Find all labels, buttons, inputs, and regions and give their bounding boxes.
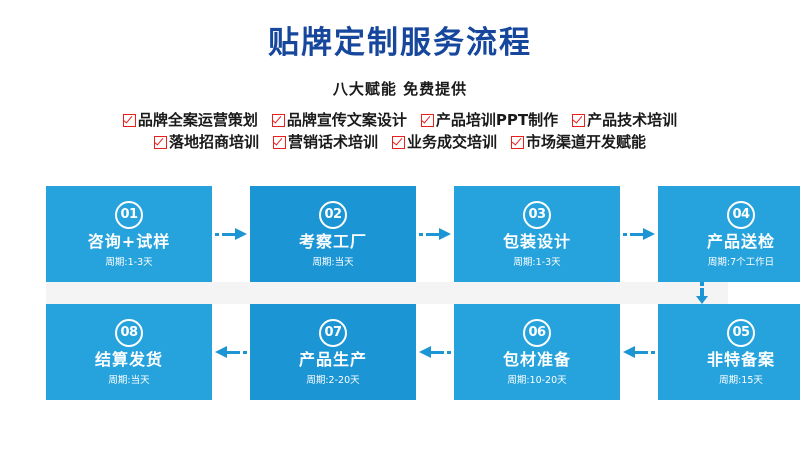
benefit-item: 落地招商培训 [154, 135, 259, 150]
flow-connector [212, 186, 250, 282]
flow-connector [620, 186, 658, 282]
flow-connector [416, 304, 454, 400]
flow-step-01[interactable]: 01 咨询+试样 周期:1-3天 [46, 186, 212, 282]
step-period: 周期:15天 [719, 376, 763, 386]
step-name: 非特备案 [707, 352, 775, 368]
step-name: 产品生产 [299, 352, 367, 368]
page-subtitle: 八大赋能 免费提供 [0, 59, 800, 99]
step-name: 包材准备 [503, 352, 571, 368]
flow-connector [212, 304, 250, 400]
benefit-label: 品牌宣传文案设计 [287, 113, 407, 128]
arrow-right-icon [623, 228, 655, 240]
step-number: 04 [727, 201, 755, 229]
checked-checkbox-icon [273, 136, 286, 149]
step-period: 周期:2-20天 [306, 376, 359, 386]
flow-connector [416, 186, 454, 282]
benefit-item: 市场渠道开发赋能 [511, 135, 646, 150]
benefit-label: 产品技术培训 [587, 113, 677, 128]
checked-checkbox-icon [421, 114, 434, 127]
benefit-item: 产品技术培训 [572, 113, 677, 128]
step-number: 01 [115, 201, 143, 229]
benefit-label: 业务成交培训 [407, 135, 497, 150]
step-period: 周期:当天 [108, 376, 149, 386]
flow-row-bottom: 08 结算发货 周期:当天 07 产品生产 周期:2-20天 06 包材准备 周… [46, 304, 728, 400]
flow-step-05[interactable]: 05 非特备案 周期:15天 [658, 304, 800, 400]
arrow-left-icon [623, 346, 655, 358]
step-period: 周期:1-3天 [513, 258, 560, 268]
benefit-item: 业务成交培训 [392, 135, 497, 150]
step-number: 03 [523, 201, 551, 229]
benefit-item: 品牌全案运营策划 [123, 113, 258, 128]
benefits-list: 品牌全案运营策划 品牌宣传文案设计 产品培训PPT制作 产品技术培训 落地招商培… [0, 99, 800, 150]
flow-step-06[interactable]: 06 包材准备 周期:10-20天 [454, 304, 620, 400]
benefits-row-2: 落地招商培训 营销话术培训 业务成交培训 市场渠道开发赋能 [0, 135, 800, 150]
flow-step-02[interactable]: 02 考察工厂 周期:当天 [250, 186, 416, 282]
arrow-left-icon [419, 346, 451, 358]
checked-checkbox-icon [572, 114, 585, 127]
benefit-label: 品牌全案运营策划 [138, 113, 258, 128]
arrow-left-icon [215, 346, 247, 358]
checked-checkbox-icon [154, 136, 167, 149]
benefit-label: 营销话术培训 [288, 135, 378, 150]
step-period: 周期:1-3天 [105, 258, 152, 268]
benefit-item: 营销话术培训 [273, 135, 378, 150]
process-flow-diagram: 01 咨询+试样 周期:1-3天 02 考察工厂 周期:当天 03 包装设计 周… [0, 186, 800, 402]
flow-row-top: 01 咨询+试样 周期:1-3天 02 考察工厂 周期:当天 03 包装设计 周… [46, 186, 728, 282]
arrow-down-icon [696, 282, 708, 304]
checked-checkbox-icon [392, 136, 405, 149]
step-name: 产品送检 [707, 234, 775, 250]
flow-step-07[interactable]: 07 产品生产 周期:2-20天 [250, 304, 416, 400]
arrow-right-icon [215, 228, 247, 240]
arrow-right-icon [419, 228, 451, 240]
step-period: 周期:7个工作日 [708, 258, 774, 268]
benefit-item: 品牌宣传文案设计 [272, 113, 407, 128]
checked-checkbox-icon [272, 114, 285, 127]
step-period: 周期:当天 [312, 258, 353, 268]
flow-connector [620, 304, 658, 400]
flow-background-band [46, 282, 728, 304]
benefits-row-1: 品牌全案运营策划 品牌宣传文案设计 产品培训PPT制作 产品技术培训 [0, 113, 800, 128]
step-number: 07 [319, 319, 347, 347]
step-number: 05 [727, 319, 755, 347]
step-name: 咨询+试样 [88, 234, 170, 250]
checked-checkbox-icon [511, 136, 524, 149]
step-name: 考察工厂 [299, 234, 367, 250]
step-name: 结算发货 [95, 352, 163, 368]
step-name: 包装设计 [503, 234, 571, 250]
step-period: 周期:10-20天 [507, 376, 566, 386]
flow-step-03[interactable]: 03 包装设计 周期:1-3天 [454, 186, 620, 282]
benefit-label: 市场渠道开发赋能 [526, 135, 646, 150]
step-number: 06 [523, 319, 551, 347]
checked-checkbox-icon [123, 114, 136, 127]
page-title: 贴牌定制服务流程 [0, 0, 800, 59]
benefit-label: 产品培训PPT制作 [436, 113, 558, 128]
step-number: 02 [319, 201, 347, 229]
step-number: 08 [115, 319, 143, 347]
flow-step-04[interactable]: 04 产品送检 周期:7个工作日 [658, 186, 800, 282]
flow-step-08[interactable]: 08 结算发货 周期:当天 [46, 304, 212, 400]
benefit-item: 产品培训PPT制作 [421, 113, 558, 128]
benefit-label: 落地招商培训 [169, 135, 259, 150]
